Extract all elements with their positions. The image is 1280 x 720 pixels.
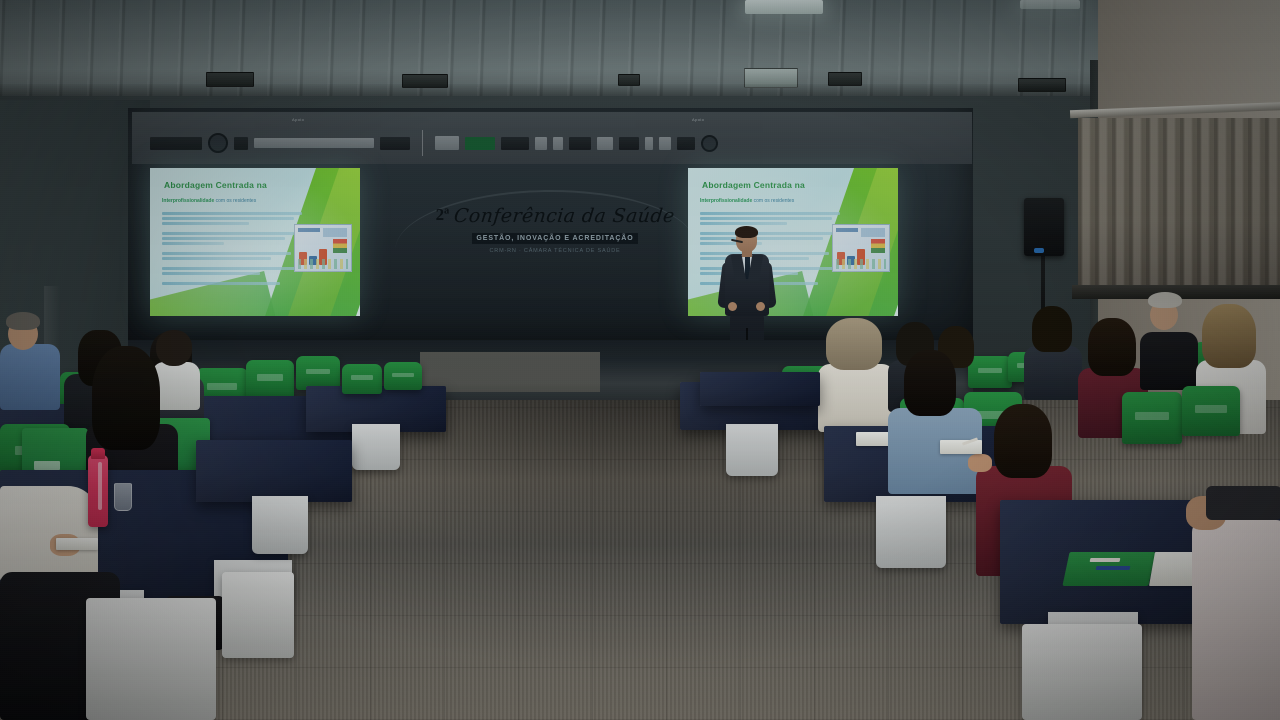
slide-paragraph [162, 232, 302, 245]
slide-lead-text: Interprofissionalidade com os residentes [162, 198, 302, 206]
chair-with-green-tote [384, 362, 422, 390]
sponsor-logo [619, 137, 639, 150]
slide-paragraph [700, 212, 840, 225]
sponsor-logo [234, 137, 248, 150]
note-paper [940, 440, 982, 454]
sponsor-logo [701, 135, 718, 152]
sponsor-logo [645, 137, 653, 150]
sponsor-logo [535, 137, 547, 150]
audience-hair [994, 404, 1052, 478]
audience-hair [826, 318, 882, 370]
pen [1090, 558, 1121, 562]
ceiling-light [745, 0, 823, 14]
audience-member [1186, 486, 1280, 720]
slide-lead-highlight: Interprofissionalidade [162, 198, 214, 204]
plastic-cup [114, 483, 132, 511]
slide-lead-highlight: Interprofissionalidade [700, 198, 752, 204]
chair-with-green-tote [246, 360, 294, 398]
chair-cover-white [86, 598, 216, 720]
audience-torso [1024, 346, 1082, 400]
slide-paragraph [162, 252, 302, 260]
audience-hair [1032, 306, 1072, 352]
table-base [352, 424, 400, 470]
chair-with-green-tote [296, 356, 340, 390]
audience-member [888, 350, 982, 492]
pa-speaker [1024, 198, 1064, 256]
conference-hall-photo: Apoio Apoio 2ª Conferência da Saúde G [0, 0, 1280, 720]
stage-base-panel [420, 352, 600, 392]
audience-tablet [1206, 486, 1280, 520]
slide-lead-text: Interprofissionalidade com os residentes [700, 198, 840, 206]
sponsor-logo [501, 137, 529, 150]
thumbnail-legend [836, 259, 886, 269]
bottle-cap [91, 448, 105, 459]
thumbnail-legend [298, 259, 348, 269]
sponsor-label-left: Apoio [292, 117, 304, 122]
slide-lead-tail: com os residentes [754, 198, 795, 204]
slide-lead-tail: com os residentes [216, 198, 257, 204]
sponsor-logo [150, 137, 202, 150]
pen [1096, 566, 1131, 570]
sponsor-logo [380, 137, 410, 150]
note-paper [56, 538, 98, 550]
slide-image-thumbnail [832, 224, 890, 272]
audience-hair [1202, 304, 1256, 368]
sponsor-logo [435, 136, 459, 150]
sponsor-logo [659, 137, 671, 150]
draped-round-table [700, 372, 820, 406]
pa-speaker-led-icon [1034, 248, 1044, 253]
audience-member [818, 318, 894, 430]
sponsor-divider [422, 130, 423, 156]
audience-member [0, 312, 62, 408]
audience-torso [1192, 520, 1280, 720]
tote-logo [34, 461, 60, 471]
presenter-hand [756, 302, 765, 311]
table-base [876, 496, 946, 568]
thumbnail-header [861, 228, 885, 237]
audience-torso [818, 364, 894, 432]
sponsor-logo-strip: Apoio Apoio [132, 112, 972, 164]
banner-script-title: Conferência da Saúde [453, 205, 676, 227]
thumbnail-chart-icon [871, 239, 885, 253]
thumbnail-chart-icon [333, 239, 347, 253]
presenter-hair [735, 226, 758, 238]
audience-hand [968, 454, 992, 472]
chair-cover-white [1022, 624, 1142, 720]
sponsor-logo [553, 137, 563, 150]
thumbnail-header [323, 228, 347, 237]
chair-with-green-tote [1122, 392, 1182, 444]
audience-member [1024, 306, 1082, 398]
sponsor-logo [569, 137, 591, 150]
audience-hair [1088, 318, 1136, 376]
banner-ordinal: 2ª [436, 205, 450, 225]
slide-title: Abordagem Centrada na [164, 180, 294, 190]
slide-paragraph [162, 282, 302, 285]
sponsor-logo [597, 137, 613, 150]
bottle-highlight [98, 462, 102, 510]
thumbnail-header [298, 228, 320, 232]
table-base [726, 424, 778, 476]
sponsor-logo [677, 137, 695, 150]
slide-body [162, 212, 302, 288]
slide-paragraph [162, 212, 302, 225]
sponsor-logo [465, 137, 495, 150]
sponsor-logo [254, 138, 374, 148]
presenter-hand [728, 302, 737, 311]
thumbnail-header [836, 228, 858, 232]
slide-title: Abordagem Centrada na [702, 180, 832, 190]
chair-with-green-tote [342, 364, 382, 394]
chair-cover-white [222, 572, 294, 658]
banner-subtitle-secondary: CRM-RN · CÂMARA TÉCNICA DE SAÚDE [430, 248, 680, 254]
audience-hair [1148, 292, 1182, 308]
sponsor-label-right: Apoio [692, 117, 704, 122]
audience-hair [904, 350, 956, 416]
audience-torso [0, 344, 60, 410]
audience-hair [6, 312, 40, 330]
audience-member [1140, 292, 1198, 388]
banner-title-block: 2ª Conferência da Saúde GESTÃO, INOVAÇÃO… [430, 205, 680, 254]
audience-torso [1140, 332, 1198, 390]
audience-hair [92, 346, 160, 450]
banner-subtitle: GESTÃO, INOVAÇÃO E ACREDITAÇÃO [472, 233, 637, 244]
window-curtain [1078, 118, 1280, 290]
audience-shawl [0, 486, 98, 582]
sponsor-logo [208, 133, 228, 153]
ceiling-light [1020, 0, 1080, 9]
slide-image-thumbnail [294, 224, 352, 272]
draped-round-table [196, 440, 352, 502]
chair-with-green-tote [1182, 386, 1240, 436]
projection-screen-left: Abordagem Centrada na Interprofissionali… [150, 168, 360, 316]
table-base [252, 496, 308, 554]
slide-paragraph [162, 267, 302, 275]
